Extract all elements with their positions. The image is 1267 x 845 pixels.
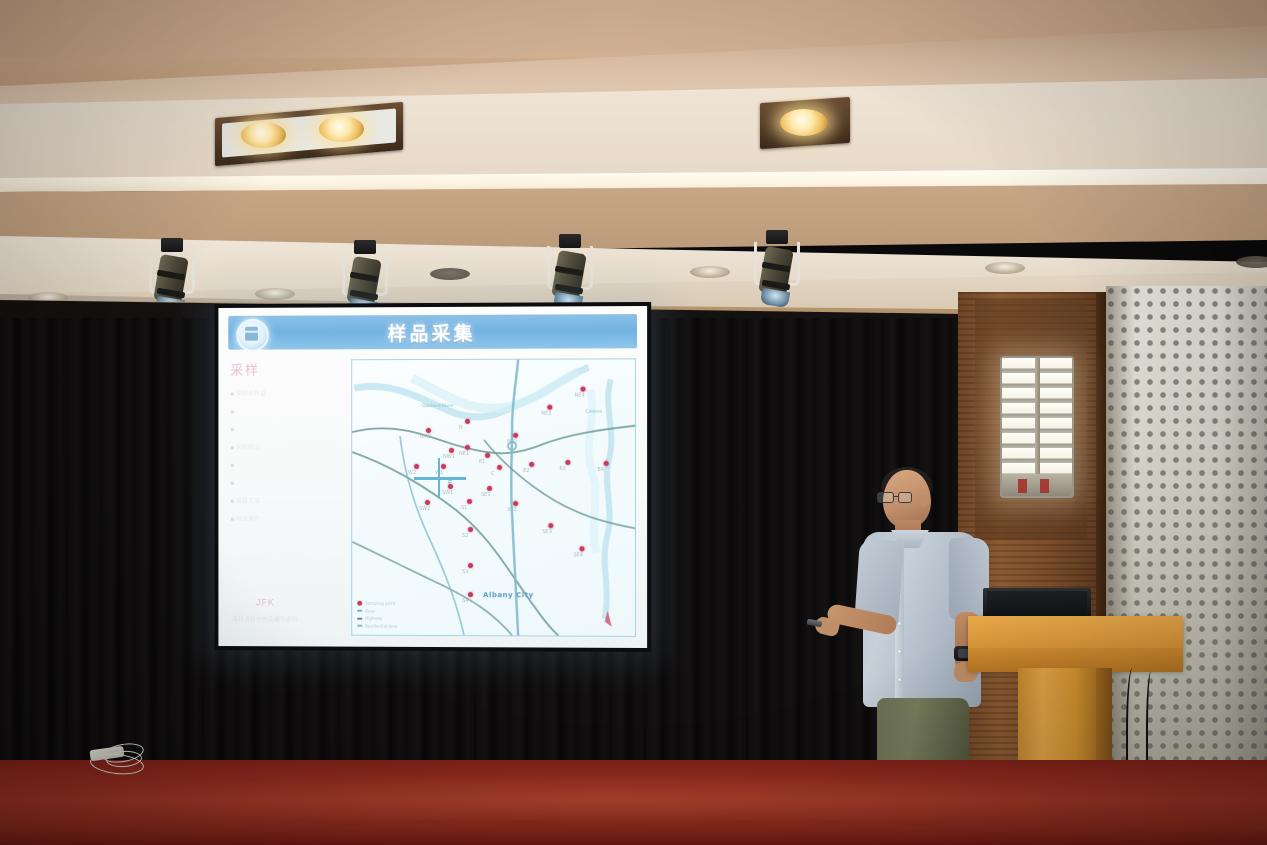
sampling-site-map: Oakland River Colonie Albany City E NE4N…	[351, 358, 636, 637]
map-sampling-point-label: S4	[462, 598, 468, 604]
map-sampling-point	[487, 486, 492, 491]
slide-bullet	[230, 479, 347, 488]
projection-screen-frame: 样品采集 采样 采样点布设 采样时间 采样方法 样品保存 JFK 采样点位分布及…	[214, 302, 651, 652]
map-sampling-point-label: SE2	[507, 507, 517, 513]
floor-power-cord	[84, 742, 170, 778]
map-sampling-point-label: NE4	[574, 393, 584, 399]
slide-bullet	[230, 425, 347, 434]
map-sampling-point	[468, 563, 473, 568]
map-sampling-point	[580, 387, 585, 392]
map-sampling-point-label: S2	[462, 533, 468, 539]
sconce-base	[1002, 474, 1072, 496]
slide-left-column: 采样 采样点布设 采样时间 采样方法 样品保存 JFK 采样点位分布及编号说明	[230, 359, 347, 633]
map-sampling-point-label: NE2	[507, 439, 517, 445]
slide-bullet	[230, 407, 347, 416]
legend-residential-icon	[357, 625, 362, 627]
map-sampling-point	[425, 500, 430, 505]
legend-row: River	[357, 608, 449, 613]
laptop-screen	[987, 591, 1087, 617]
slide-bullet: 采样时间	[230, 443, 347, 452]
ceiling-downlight-2	[255, 288, 295, 300]
map-sampling-point-label: NE1	[459, 451, 469, 457]
map-sampling-point-label: SW2	[419, 506, 430, 512]
recessed-bulb-right	[319, 116, 364, 142]
map-sampling-point-label: E1	[479, 459, 485, 465]
map-sampling-point-label: E4	[598, 467, 604, 473]
map-sampling-point	[441, 464, 446, 469]
map-river-label: Oakland River	[422, 404, 454, 409]
slide-bullet: 采样点布设	[230, 389, 347, 398]
map-sampling-point	[449, 448, 454, 453]
map-sampling-point-label: W2	[408, 470, 416, 476]
map-sampling-point	[414, 464, 419, 469]
map-sampling-point-label: NE3	[541, 411, 551, 417]
legend-row: Sampling point	[357, 601, 449, 606]
map-sampling-point-label: NW1	[443, 454, 455, 460]
carpet-highlight	[0, 770, 1267, 820]
map-sampling-point	[467, 499, 472, 504]
map-sampling-point-label: SE1	[481, 492, 491, 498]
conference-hall-photo: 样品采集 采样 采样点布设 采样时间 采样方法 样品保存 JFK 采样点位分布及…	[0, 0, 1267, 845]
map-sampling-point	[465, 445, 470, 450]
map-sampling-point-label: E2	[523, 468, 529, 474]
map-sampling-point	[565, 460, 570, 465]
map-sampling-point-label: SW1	[442, 490, 453, 496]
eyeglasses-icon	[877, 492, 921, 503]
slide-footnote: 采样点位分布及编号说明	[232, 614, 297, 623]
legend-row: Highway	[357, 616, 449, 621]
map-sampling-point	[548, 523, 553, 528]
legend-river-icon	[357, 610, 362, 612]
map-sampling-point	[468, 527, 473, 532]
map-sampling-point-label: C	[491, 471, 495, 477]
recessed-bulb-left	[241, 122, 286, 148]
ceiling-downlight-4	[690, 266, 730, 278]
legend-highway-icon	[357, 617, 362, 619]
map-sampling-point	[529, 462, 534, 467]
map-sampling-point-label: SE4	[573, 552, 583, 558]
map-sampling-point	[485, 453, 490, 458]
slide-bullet: 采样方法	[230, 497, 347, 506]
map-sampling-point	[513, 501, 518, 506]
map-sampling-point	[426, 428, 431, 433]
map-sampling-point-label: S1	[461, 505, 467, 511]
legend-label: Residential area	[365, 623, 397, 628]
map-secondary-label: Colonie	[586, 410, 603, 415]
map-legend: Sampling point River Highway Residential…	[357, 601, 449, 631]
slide-footnote-label: JFK	[256, 597, 275, 607]
map-sampling-point-label: E3	[559, 466, 565, 472]
legend-row: Residential area	[357, 623, 449, 628]
map-sampling-point	[465, 419, 470, 424]
map-sampling-point	[513, 433, 518, 438]
legend-sampling-point-icon	[357, 601, 362, 606]
map-city-label: Albany City	[483, 591, 534, 599]
sconce-red-accent-right	[1040, 479, 1049, 493]
map-sampling-point	[579, 546, 584, 551]
sconce-red-accent-left	[1018, 479, 1027, 493]
map-sampling-point-label: S3	[462, 569, 468, 575]
map-sampling-point-label: W1	[435, 470, 443, 476]
projected-slide: 样品采集 采样 采样点布设 采样时间 采样方法 样品保存 JFK 采样点位分布及…	[218, 306, 647, 648]
wall-sconce-lamp	[1000, 356, 1074, 498]
slide-header-bar: 样品采集	[228, 314, 637, 350]
map-sampling-point-label: NW2	[420, 434, 432, 440]
legend-label: Highway	[365, 616, 382, 621]
ceiling-downlight-5	[985, 262, 1025, 274]
legend-label: Sampling point	[365, 601, 395, 606]
map-sampling-point	[604, 461, 609, 466]
map-sampling-point	[547, 405, 552, 410]
ceiling-downlight-3	[430, 268, 470, 280]
map-sampling-point	[468, 592, 473, 597]
map-sampling-point-label: N	[459, 425, 463, 431]
slide-title: 样品采集	[228, 314, 637, 350]
map-sampling-point	[448, 484, 453, 489]
map-compass-cross: E	[414, 458, 466, 498]
recessed-bulb-single	[780, 109, 828, 136]
slide-bullet: 样品保存	[230, 515, 347, 524]
map-sampling-point	[497, 465, 502, 470]
slide-bullet	[230, 461, 347, 470]
map-sampling-point-label: SE3	[542, 529, 552, 535]
legend-label: River	[365, 608, 375, 613]
slide-section-heading: 采样	[230, 359, 347, 378]
